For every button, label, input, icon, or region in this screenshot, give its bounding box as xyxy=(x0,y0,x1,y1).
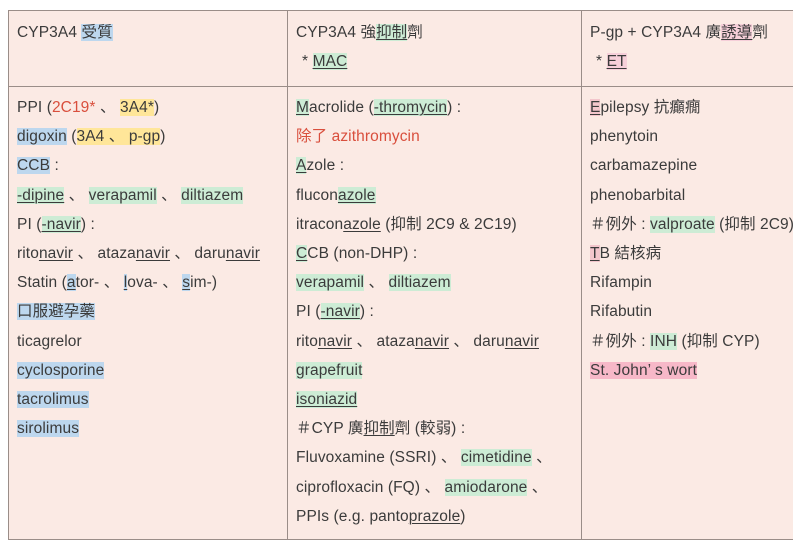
header-line-mac: * MAC xyxy=(296,47,573,76)
text-sep: 、 xyxy=(73,245,97,262)
row-fluconazole: fluconazole xyxy=(296,181,573,210)
row-weak-list-3: PPIs (e.g. pantoprazole) xyxy=(296,502,573,531)
header-text-inhibitor-a: CYP3A4 強 xyxy=(296,24,376,41)
highlight-valproate: valproate xyxy=(650,216,715,233)
body-cell-inducers: Epilepsy 抗癲癇 phenytoin carbamazepine phe… xyxy=(582,87,793,540)
highlight-c: C xyxy=(296,245,307,262)
highlight-diltiazem: diltiazem xyxy=(389,274,451,291)
highlight-3a4: 3A4 xyxy=(77,128,105,145)
highlight-3a4: 3A4* xyxy=(120,99,154,116)
header-highlight-yizhi: 抑制 xyxy=(376,24,407,41)
text-except-azithromycin: 除了 azithromycin xyxy=(296,128,420,145)
text-acrolide: acrolide ( xyxy=(309,99,374,116)
text-rifabutin: Rifabutin xyxy=(590,303,652,320)
text-im: im-) xyxy=(190,274,217,291)
row-exception-inh: ＃例外 : INH (抑制 CYP) xyxy=(590,327,793,356)
text-daru: daru xyxy=(473,333,504,350)
text-ataza: ataza xyxy=(97,245,135,262)
text-weak-prefix: ＃CYP 廣 xyxy=(296,420,364,437)
header-text-inhibitor-c: 劑 xyxy=(407,24,423,41)
text-weak-suffix: 劑 (較弱) : xyxy=(395,420,466,437)
highlight-st-johns-wort: St. John’ s wort xyxy=(590,362,697,379)
highlight-dipine: -dipine xyxy=(17,187,64,204)
row-except-azithromycin: 除了 azithromycin xyxy=(296,122,573,151)
row-ccb: CCB : xyxy=(17,151,279,180)
highlight-sirolimus: sirolimus xyxy=(17,420,79,437)
row-sirolimus: sirolimus xyxy=(17,414,279,443)
text-close-paren: ) xyxy=(460,508,465,525)
row-isoniazid: isoniazid xyxy=(296,385,573,414)
text-sep: 、 xyxy=(170,245,194,262)
text-close-paren: ) xyxy=(154,99,159,116)
highlight-digoxin: digoxin xyxy=(17,128,67,145)
header-asterisk-mac: * xyxy=(302,53,308,70)
text-colon: : xyxy=(50,157,59,174)
highlight-a: a xyxy=(67,274,76,291)
row-cyclosporine: cyclosporine xyxy=(17,356,279,385)
text-zole-colon: zole : xyxy=(306,157,344,174)
text-sep: 、 xyxy=(527,479,547,496)
text-ppi-prefix: PPI ( xyxy=(17,99,52,116)
text-pi-prefix: PI ( xyxy=(17,216,42,233)
text-rito: rito xyxy=(17,245,39,262)
header-text-inducer-c: 劑 xyxy=(752,24,768,41)
row-ccb-list: verapamil 、 diltiazem xyxy=(296,268,573,297)
row-tacrolimus: tacrolimus xyxy=(17,385,279,414)
row-tb: TB 結核病 xyxy=(590,239,793,268)
row-pi: PI (-navir) : xyxy=(17,210,279,239)
highlight-verapamil: verapamil xyxy=(296,274,364,291)
underline-prazole: prazole xyxy=(409,508,461,525)
text-itracon: itracon xyxy=(296,216,343,233)
row-ticagrelor: ticagrelor xyxy=(17,327,279,356)
text-tor: tor- xyxy=(76,274,100,291)
header-mnemonic-mac: MAC xyxy=(313,53,348,70)
highlight-thromycin: -thromycin xyxy=(374,99,447,116)
header-mnemonic-et: ET xyxy=(607,53,627,70)
text-sep: 、 xyxy=(104,128,128,145)
highlight-verapamil: verapamil xyxy=(89,187,157,204)
text-pilepsy: pilepsy 抗癲癇 xyxy=(600,99,700,116)
highlight-tacrolimus: tacrolimus xyxy=(17,391,89,408)
highlight-a: A xyxy=(296,157,306,174)
text-sep: 、 xyxy=(364,274,388,291)
underline-navir: navir xyxy=(226,245,260,262)
text-sep: 、 xyxy=(449,333,473,350)
row-dhp-list: -dipine 、 verapamil 、 diltiazem xyxy=(17,181,279,210)
highlight-cimetidine: cimetidine xyxy=(461,449,532,466)
row-phenobarbital: phenobarbital xyxy=(590,181,793,210)
highlight-cyclosporine: cyclosporine xyxy=(17,362,104,379)
text-daru: daru xyxy=(194,245,225,262)
header-asterisk-et: * xyxy=(596,53,602,70)
header-line-inducer: P-gp + CYP3A4 廣誘導劑 xyxy=(590,18,793,47)
row-macrolide: Macrolide (-thromycin) : xyxy=(296,93,573,122)
text-sep: 、 xyxy=(96,99,120,116)
text-ppis-panto: PPIs (e.g. panto xyxy=(296,508,409,525)
row-phenytoin: phenytoin xyxy=(590,122,793,151)
text-close-paren: ) xyxy=(160,128,165,145)
text-2c19: 2C19* xyxy=(52,99,96,116)
text-exception-label: ＃例外 : xyxy=(590,333,650,350)
highlight-navir: -navir xyxy=(42,216,81,233)
text-flucon: flucon xyxy=(296,187,338,204)
highlight-azole: azole xyxy=(338,187,376,204)
row-oral-contraceptive: 口服避孕藥 xyxy=(17,297,279,326)
row-rifampin: Rifampin xyxy=(590,268,793,297)
row-weak-list-1: Fluvoxamine (SSRI) 、 cimetidine 、 xyxy=(296,443,573,472)
header-line-et: * ET xyxy=(590,47,793,76)
underline-navir: navir xyxy=(39,245,73,262)
drug-interaction-table: CYP3A4 受質 CYP3A4 強抑制劑 * MAC P-gp + CYP3A… xyxy=(8,10,793,540)
row-itraconazole: itraconazole (抑制 2C9 & 2C19) xyxy=(296,210,573,239)
highlight-diltiazem: diltiazem xyxy=(181,187,243,204)
row-ccb-nondhp: CCB (non-DHP) : xyxy=(296,239,573,268)
highlight-pgp: p-gp xyxy=(129,128,160,145)
body-cell-strong-inhibitors: Macrolide (-thromycin) : 除了 azithromycin… xyxy=(288,87,582,540)
body-cell-substrates: PPI (2C19* 、 3A4*) digoxin (3A4 、 p-gp) … xyxy=(9,87,288,540)
slide-canvas: CYP3A4 受質 CYP3A4 強抑制劑 * MAC P-gp + CYP3A… xyxy=(0,0,793,535)
highlight-grapefruit: grapefruit xyxy=(296,362,362,379)
row-epilepsy: Epilepsy 抗癲癇 xyxy=(590,93,793,122)
row-weak-list-2: ciprofloxacin (FQ) 、 amiodarone 、 xyxy=(296,473,573,502)
header-text-inducer-a: P-gp + CYP3A4 廣 xyxy=(590,24,721,41)
text-sep: 、 xyxy=(64,187,88,204)
text-sep: 、 xyxy=(99,274,123,291)
underline-navir: navir xyxy=(318,333,352,350)
text-sep: 、 xyxy=(157,187,181,204)
text-ciprofloxacin: ciprofloxacin (FQ) 、 xyxy=(296,479,445,496)
text-exception-label: ＃例外 : xyxy=(590,216,650,233)
underline-yizhi: 抑制 xyxy=(364,420,395,437)
header-cell-inducers: P-gp + CYP3A4 廣誘導劑 * ET xyxy=(582,11,793,87)
header-cell-strong-inhibitors: CYP3A4 強抑制劑 * MAC xyxy=(288,11,582,87)
header-line-substrates: CYP3A4 受質 xyxy=(17,18,279,47)
row-pi: PI (-navir) : xyxy=(296,297,573,326)
header-highlight-shouzhi: 受質 xyxy=(81,24,112,41)
row-statin: Statin (ator- 、 lova- 、 sim-) xyxy=(17,268,279,297)
text-sep: 、 xyxy=(158,274,182,291)
text-fluvoxamine: Fluvoxamine (SSRI) 、 xyxy=(296,449,461,466)
highlight-inh: INH xyxy=(650,333,677,350)
row-ppi: PPI (2C19* 、 3A4*) xyxy=(17,93,279,122)
header-cell-substrates: CYP3A4 受質 xyxy=(9,11,288,87)
text-cb-nondhp: CB (non-DHP) : xyxy=(307,245,417,262)
text-b-tuberculosis: B 結核病 xyxy=(600,245,662,262)
row-pi-list: ritonavir 、 atazanavir 、 darunavir xyxy=(17,239,279,268)
header-line-inhibitor: CYP3A4 強抑制劑 xyxy=(296,18,573,47)
text-ticagrelor: ticagrelor xyxy=(17,333,82,350)
text-phenytoin: phenytoin xyxy=(590,128,658,145)
text-colon: ) : xyxy=(447,99,461,116)
highlight-oral-contraceptive: 口服避孕藥 xyxy=(17,303,95,320)
text-note-2c9-2c19: (抑制 2C9 & 2C19) xyxy=(381,216,517,233)
text-sep: 、 xyxy=(352,333,376,350)
row-azole: Azole : xyxy=(296,151,573,180)
highlight-isoniazid: isoniazid xyxy=(296,391,357,408)
row-grapefruit: grapefruit xyxy=(296,356,573,385)
underline-azole: azole xyxy=(343,216,381,233)
text-colon: ) : xyxy=(360,303,374,320)
text-rito: rito xyxy=(296,333,318,350)
highlight-amiodarone: amiodarone xyxy=(445,479,528,496)
row-st-johns-wort: St. John’ s wort xyxy=(590,356,793,385)
text-phenobarbital: phenobarbital xyxy=(590,187,685,204)
text-open-paren: ( xyxy=(67,128,77,145)
row-exception-valproate: ＃例外 : valproate (抑制 2C9) xyxy=(590,210,793,239)
text-sep: 、 xyxy=(532,449,552,466)
text-note-2c9: (抑制 2C9) xyxy=(715,216,793,233)
table-header-row: CYP3A4 受質 CYP3A4 強抑制劑 * MAC P-gp + CYP3A… xyxy=(9,11,793,87)
highlight-t: T xyxy=(590,245,600,262)
highlight-e: E xyxy=(590,99,600,116)
text-ova: ova- xyxy=(127,274,158,291)
underline-navir: navir xyxy=(136,245,170,262)
highlight-s: s xyxy=(182,274,190,291)
row-pi-list: ritonavir 、 atazanavir 、 darunavir xyxy=(296,327,573,356)
text-carbamazepine: carbamazepine xyxy=(590,157,697,174)
row-digoxin: digoxin (3A4 、 p-gp) xyxy=(17,122,279,151)
text-colon: ) : xyxy=(81,216,95,233)
text-statin-prefix: Statin ( xyxy=(17,274,67,291)
text-ataza: ataza xyxy=(376,333,414,350)
highlight-ccb: CCB xyxy=(17,157,50,174)
row-carbamazepine: carbamazepine xyxy=(590,151,793,180)
header-text-cyp3a4-substrate-prefix: CYP3A4 xyxy=(17,24,81,41)
row-weak-cyp-inhibitors: ＃CYP 廣抑制劑 (較弱) : xyxy=(296,414,573,443)
text-rifampin: Rifampin xyxy=(590,274,652,291)
highlight-navir: -navir xyxy=(321,303,360,320)
table-body-row: PPI (2C19* 、 3A4*) digoxin (3A4 、 p-gp) … xyxy=(9,87,793,540)
underline-navir: navir xyxy=(415,333,449,350)
header-highlight-youdao: 誘導 xyxy=(721,24,752,41)
text-pi-prefix: PI ( xyxy=(296,303,321,320)
highlight-m: M xyxy=(296,99,309,116)
underline-navir: navir xyxy=(505,333,539,350)
text-note-cyp: (抑制 CYP) xyxy=(677,333,760,350)
row-rifabutin: Rifabutin xyxy=(590,297,793,326)
